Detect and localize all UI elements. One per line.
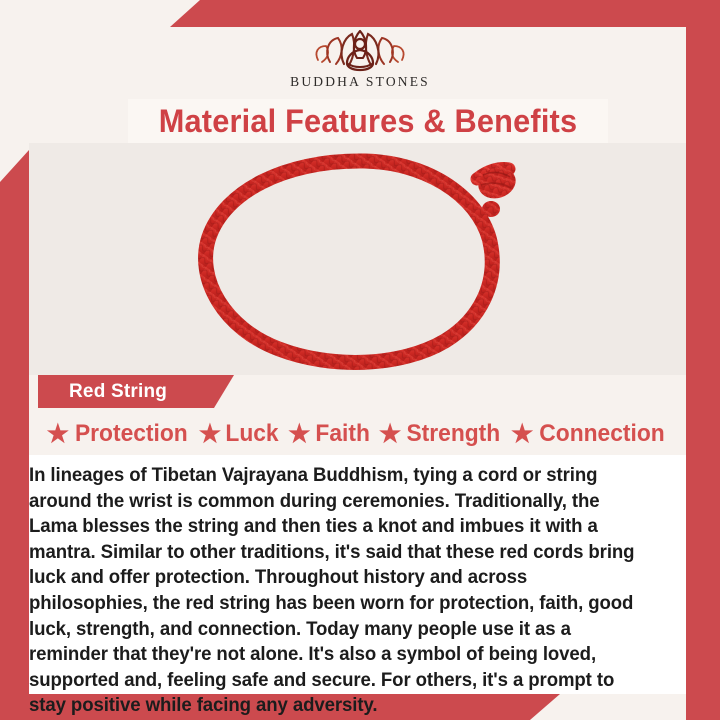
star-icon: ★ bbox=[47, 422, 69, 447]
product-name-ribbon: Red String bbox=[38, 375, 234, 408]
page-title: Material Features & Benefits bbox=[159, 103, 578, 140]
benefit-item-strength: ★Strength bbox=[375, 420, 507, 448]
benefit-label: Strength bbox=[407, 420, 501, 448]
product-name-label: Red String bbox=[69, 381, 167, 403]
decorative-left-bar bbox=[0, 150, 29, 720]
description-panel: In lineages of Tibetan Vajrayana Buddhis… bbox=[29, 455, 686, 694]
benefit-item-protection: ★Protection bbox=[43, 420, 195, 448]
star-icon: ★ bbox=[288, 422, 310, 447]
star-icon: ★ bbox=[511, 422, 533, 447]
benefit-label: Protection bbox=[75, 420, 188, 448]
product-image-area bbox=[29, 143, 686, 375]
star-icon: ★ bbox=[379, 422, 401, 447]
lotus-meditation-logo-icon bbox=[300, 24, 420, 76]
benefit-label: Connection bbox=[540, 420, 665, 448]
star-icon: ★ bbox=[199, 422, 221, 447]
decorative-top-bar bbox=[0, 0, 720, 27]
decorative-right-bar bbox=[686, 0, 720, 720]
benefit-item-connection: ★Connection bbox=[507, 420, 672, 448]
brand-name: BUDDHA STONES bbox=[290, 74, 430, 90]
brand-header: BUDDHA STONES bbox=[0, 27, 720, 100]
benefit-item-luck: ★Luck bbox=[195, 420, 284, 448]
benefit-label: Luck bbox=[226, 420, 279, 448]
description-text: In lineages of Tibetan Vajrayana Buddhis… bbox=[29, 463, 643, 719]
title-band: Material Features & Benefits bbox=[128, 99, 608, 143]
benefit-label: Faith bbox=[315, 420, 369, 448]
bracelet-cord-shading bbox=[206, 161, 493, 362]
benefit-item-faith: ★Faith bbox=[284, 420, 375, 448]
red-string-bracelet-image bbox=[29, 143, 686, 375]
benefits-list: ★Protection★Luck★Faith★Strength★Connecti… bbox=[29, 413, 686, 455]
infographic-page: BUDDHA STONES Material Features & Benefi… bbox=[0, 0, 720, 720]
